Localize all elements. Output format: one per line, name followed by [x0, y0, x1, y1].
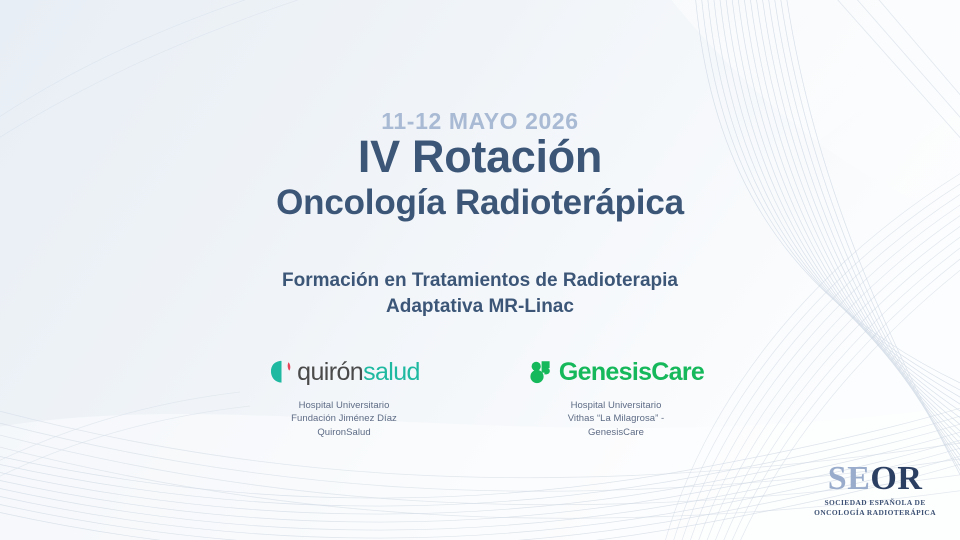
sponsor-quironsalud: quirónsalud Hospital Universitario Funda…: [244, 352, 444, 439]
event-tagline: Formación en Tratamientos de Radioterapi…: [0, 268, 960, 320]
genesiscare-caption-line-3: GenesisCare: [568, 426, 665, 439]
seor-tagline-line-2: ONCOLOGÍA RADIOTERÁPICA: [814, 508, 936, 518]
quironsalud-leaf-icon: [268, 357, 294, 387]
slide-content: 11-12 MAYO 2026 IV Rotación Oncología Ra…: [0, 0, 960, 540]
genesiscare-caption: Hospital Universitario Vithas “La Milagr…: [568, 399, 665, 439]
sponsor-logo-group: quirónsalud Hospital Universitario Funda…: [0, 352, 960, 439]
seor-tagline-line-1: SOCIEDAD ESPAÑOLA DE: [814, 498, 936, 508]
genesiscare-clover-icon: [528, 357, 556, 387]
seor-tagline: SOCIEDAD ESPAÑOLA DE ONCOLOGÍA RADIOTERÁ…: [814, 498, 936, 518]
presentation-slide: 11-12 MAYO 2026 IV Rotación Oncología Ra…: [0, 0, 960, 540]
quironsalud-wordmark: quirónsalud: [297, 358, 420, 387]
quironsalud-wordmark-part2: salud: [363, 358, 420, 386]
seor-wordmark: SEOR: [814, 462, 936, 496]
genesiscare-wordmark: GenesisCare: [559, 358, 704, 387]
genesiscare-caption-line-1: Hospital Universitario: [568, 399, 665, 412]
quironsalud-caption-line-1: Hospital Universitario: [291, 399, 397, 412]
page-title: IV Rotación: [0, 133, 960, 182]
tagline-line-2: Adaptativa MR-Linac: [0, 294, 960, 320]
quironsalud-caption-line-3: QuironSalud: [291, 426, 397, 439]
seor-wordmark-part1: SE: [828, 460, 871, 497]
quironsalud-wordmark-part1: quirón: [297, 358, 363, 386]
tagline-line-1: Formación en Tratamientos de Radioterapi…: [0, 268, 960, 294]
quironsalud-caption: Hospital Universitario Fundación Jiménez…: [291, 399, 397, 439]
genesiscare-caption-line-2: Vithas “La Milagrosa” -: [568, 412, 665, 425]
seor-logo: SEOR SOCIEDAD ESPAÑOLA DE ONCOLOGÍA RADI…: [814, 462, 936, 518]
quironsalud-logo: quirónsalud: [268, 352, 420, 392]
sponsor-genesiscare: GenesisCare Hospital Universitario Vitha…: [516, 352, 716, 439]
quironsalud-caption-line-2: Fundación Jiménez Díaz: [291, 412, 397, 425]
genesiscare-logo: GenesisCare: [528, 352, 704, 392]
seor-wordmark-part2: OR: [870, 460, 922, 497]
page-subtitle: Oncología Radioterápica: [0, 184, 960, 223]
